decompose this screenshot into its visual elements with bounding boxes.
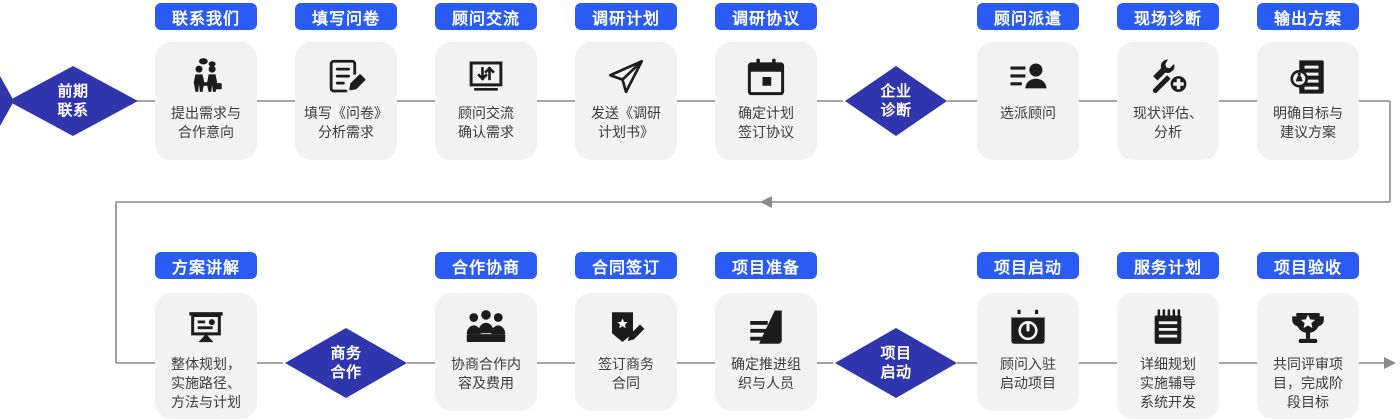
diamond-label: 商务 合作 [330, 344, 361, 382]
badge-label: 项目验收 [1274, 254, 1342, 278]
power-calendar-icon [1005, 305, 1051, 351]
card-label: 确定推进组 织与人员 [725, 355, 807, 393]
card-label: 顾问入驻 启动项目 [994, 355, 1062, 393]
card-label: 发送《调研 计划书》 [585, 104, 667, 142]
diamond-preliminary-contact[interactable]: 前期 联系 [8, 66, 138, 136]
card-project-preparation[interactable]: 确定推进组 织与人员 [715, 293, 817, 411]
card-consultant-exchange[interactable]: 顾问交流 确认需求 [435, 42, 537, 160]
badge-research-agreement[interactable]: 调研协议 [715, 3, 817, 30]
badge-label: 项目准备 [732, 254, 800, 278]
badge-consultant-dispatch[interactable]: 顾问派遣 [977, 3, 1079, 30]
notepad-icon [1145, 305, 1191, 351]
card-label: 填写《问卷》 分析需求 [298, 104, 394, 142]
badge-label: 联系我们 [172, 5, 240, 29]
trophy-star-icon [1285, 305, 1331, 351]
card-research-agreement[interactable]: 确定计划 签订协议 [715, 42, 817, 160]
organization-chart-icon [743, 305, 789, 351]
card-service-plan[interactable]: 详细规划 实施辅导 系统开发 [1117, 293, 1219, 419]
badge-project-launch[interactable]: 项目启动 [977, 252, 1079, 279]
badge-onsite-diagnosis[interactable]: 现场诊断 [1117, 3, 1219, 30]
badge-cooperation-negotiation[interactable]: 合作协商 [435, 252, 537, 279]
badge-project-acceptance[interactable]: 项目验收 [1257, 252, 1359, 279]
card-label: 协商合作内 容及费用 [445, 355, 527, 393]
badge-label: 合同签订 [592, 254, 660, 278]
badge-research-plan[interactable]: 调研计划 [575, 3, 677, 30]
card-project-acceptance[interactable]: 共同评审项 目，完成阶 段目标 [1257, 293, 1359, 419]
badge-project-preparation[interactable]: 项目准备 [715, 252, 817, 279]
wrench-tools-icon [1145, 54, 1191, 100]
badge-label: 调研计划 [592, 5, 660, 29]
diamond-project-launch[interactable]: 项目 启动 [835, 328, 957, 398]
card-consultant-dispatch[interactable]: 选派顾问 [977, 42, 1079, 160]
card-output-proposal[interactable]: 明确目标与 建议方案 [1257, 42, 1359, 160]
handshake-icon [183, 54, 229, 100]
card-label: 签订商务 合同 [592, 355, 660, 393]
exchange-monitor-icon [463, 54, 509, 100]
card-label: 顾问交流 确认需求 [452, 104, 520, 142]
card-contact-us[interactable]: 提出需求与 合作意向 [155, 42, 257, 160]
row2-end-arrow [1384, 357, 1396, 369]
badge-label: 填写问卷 [312, 5, 380, 29]
card-label: 提出需求与 合作意向 [165, 104, 247, 142]
badge-consultant-exchange[interactable]: 顾问交流 [435, 3, 537, 30]
diamond-label: 项目 启动 [880, 344, 911, 382]
card-label: 选派顾问 [994, 104, 1062, 123]
form-edit-icon [323, 54, 369, 100]
card-onsite-diagnosis[interactable]: 现状评估、 分析 [1117, 42, 1219, 160]
card-proposal-presentation[interactable]: 整体规划， 实施路径、 方法与计划 [155, 293, 257, 419]
badge-contract-signing[interactable]: 合同签订 [575, 252, 677, 279]
badge-label: 合作协商 [452, 254, 520, 278]
badge-fill-questionnaire[interactable]: 填写问卷 [295, 3, 397, 30]
badge-proposal-presentation[interactable]: 方案讲解 [155, 252, 257, 279]
presentation-board-icon [183, 305, 229, 351]
badge-label: 项目启动 [994, 254, 1062, 278]
diamond-business-cooperation[interactable]: 商务 合作 [285, 328, 407, 398]
card-label: 共同评审项 目，完成阶 段目标 [1267, 355, 1349, 412]
badge-output-proposal[interactable]: 输出方案 [1257, 3, 1359, 30]
card-label: 明确目标与 建议方案 [1267, 104, 1349, 142]
diamond-enterprise-diagnosis[interactable]: 企业 诊断 [845, 66, 947, 136]
badge-label: 服务计划 [1134, 254, 1202, 278]
badge-label: 顾问派遣 [994, 5, 1062, 29]
contract-sign-icon [603, 305, 649, 351]
badge-label: 现场诊断 [1134, 5, 1202, 29]
badge-label: 顾问交流 [452, 5, 520, 29]
badge-label: 输出方案 [1274, 5, 1342, 29]
wrap-arrow-left [760, 196, 772, 208]
calendar-icon [743, 54, 789, 100]
card-label: 现状评估、 分析 [1127, 104, 1209, 142]
card-fill-questionnaire[interactable]: 填写《问卷》 分析需求 [295, 42, 397, 160]
paper-plane-icon [603, 54, 649, 100]
badge-label: 方案讲解 [172, 254, 240, 278]
badge-label: 调研协议 [732, 5, 800, 29]
card-contract-signing[interactable]: 签订商务 合同 [575, 293, 677, 411]
card-label: 详细规划 实施辅导 系统开发 [1134, 355, 1202, 412]
diamond-label: 企业 诊断 [880, 82, 911, 120]
card-cooperation-negotiation[interactable]: 协商合作内 容及费用 [435, 293, 537, 411]
card-research-plan[interactable]: 发送《调研 计划书》 [575, 42, 677, 160]
negotiation-team-icon [463, 305, 509, 351]
badge-contact-us[interactable]: 联系我们 [155, 3, 257, 30]
card-label: 整体规划， 实施路径、 方法与计划 [165, 355, 247, 412]
report-document-icon [1285, 54, 1331, 100]
consultant-profile-icon [1005, 54, 1051, 100]
diamond-label: 前期 联系 [57, 82, 88, 120]
card-label: 确定计划 签订协议 [732, 104, 800, 142]
flowchart-canvas: 前期 联系 联系我们 提出需求与 合作意向 填写问卷 [0, 0, 1400, 417]
badge-service-plan[interactable]: 服务计划 [1117, 252, 1219, 279]
card-project-launch[interactable]: 顾问入驻 启动项目 [977, 293, 1079, 411]
